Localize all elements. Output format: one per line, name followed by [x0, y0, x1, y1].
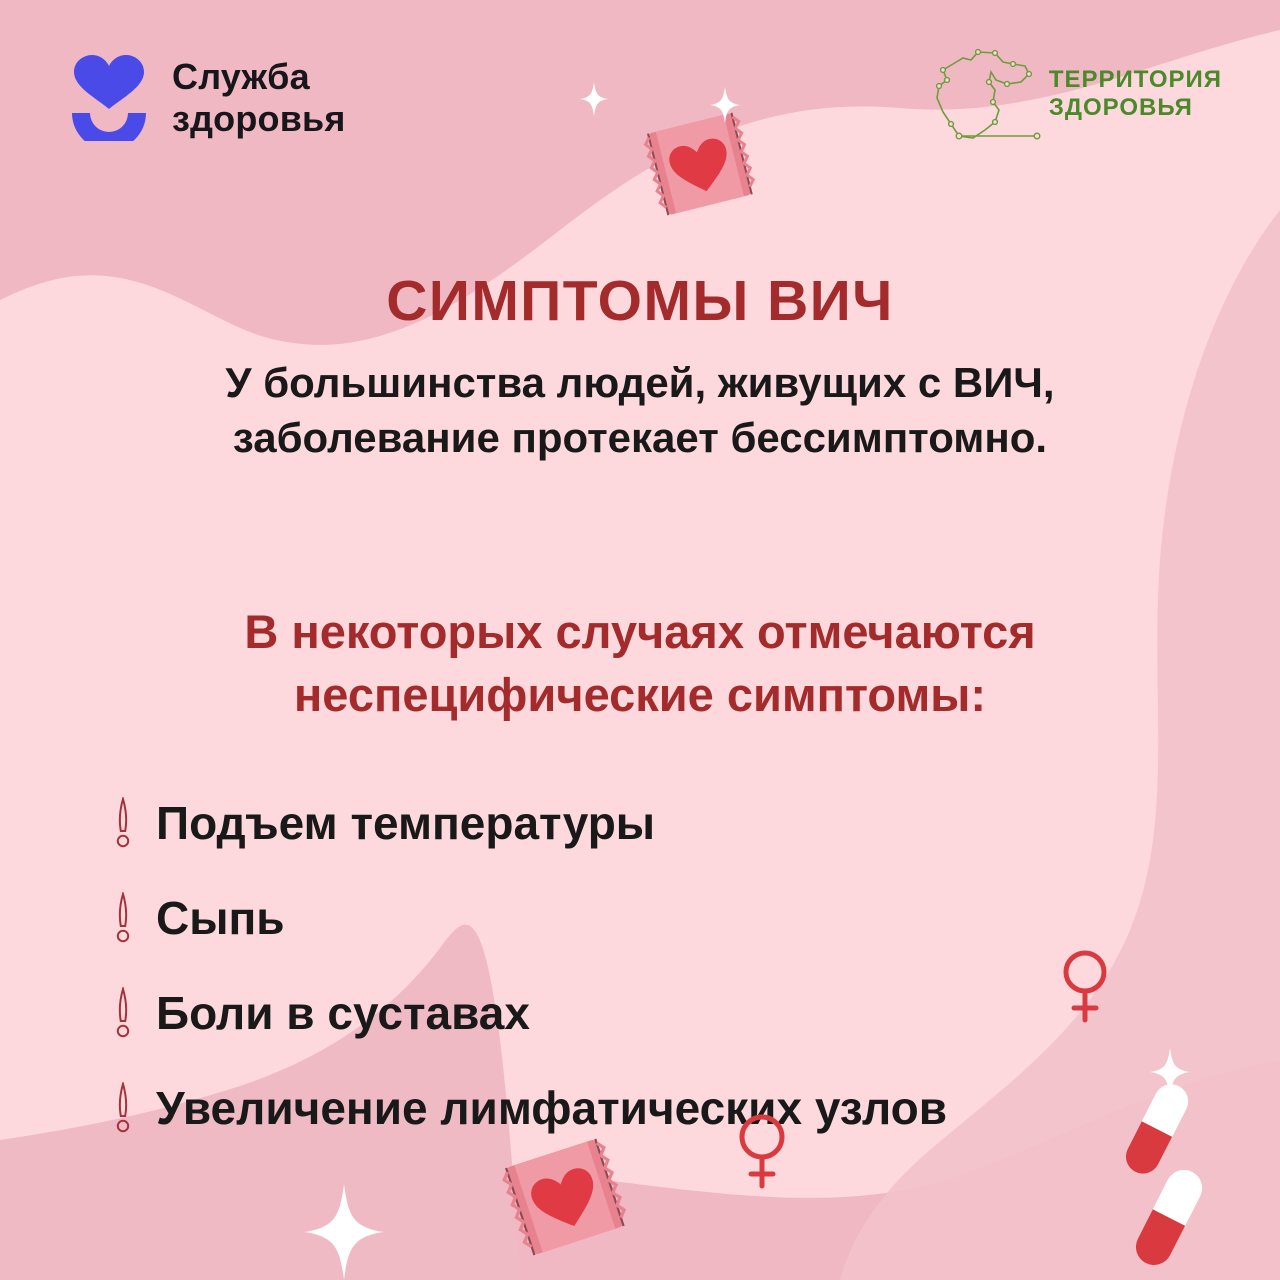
symptom-list: Подъем температуры Сыпь Боли в суставах …: [112, 775, 1232, 1155]
infographic-poster: Служба здоровья ТЕРРИТОРИЯ ЗДОРОВЬЯ: [0, 0, 1280, 1280]
logo-left-line1: Служба: [172, 56, 346, 98]
list-item: Боли в суставах: [112, 965, 1232, 1060]
intro-line-1: У большинства людей, живущих с ВИЧ,: [0, 355, 1280, 410]
sparkle-small-right-icon: [710, 86, 740, 124]
logo-right-line1: ТЕРРИТОРИЯ: [1049, 66, 1222, 94]
venus-symbol-bottom-icon: [734, 1112, 790, 1192]
subheading-line-2: неспецифические симптомы:: [0, 663, 1280, 726]
logo-sluzhba-zdorovya[interactable]: Служба здоровья: [68, 55, 346, 141]
logo-left-wordmark: Служба здоровья: [172, 56, 346, 140]
exclamation-mark-icon: [112, 987, 134, 1039]
intro-line-2: заболевание протекает бессимптомно.: [0, 410, 1280, 465]
list-item: Подъем температуры: [112, 775, 1232, 870]
logo-left-line2: здоровья: [172, 98, 346, 140]
list-item-label: Сыпь: [156, 895, 285, 941]
subheading: В некоторых случаях отмечаются неспецифи…: [0, 600, 1280, 727]
region-map-outline-icon: [933, 44, 1043, 148]
exclamation-mark-icon: [112, 797, 134, 849]
exclamation-mark-icon: [112, 1082, 134, 1134]
sparkle-medium-right-icon: [1150, 1048, 1190, 1096]
sparkle-small-left-icon: [580, 82, 608, 116]
logo-right-line2: ЗДОРОВЬЯ: [1049, 94, 1222, 122]
list-item: Сыпь: [112, 870, 1232, 965]
list-item-label: Подъем температуры: [156, 800, 655, 846]
list-item-label: Увеличение лимфатических узлов: [156, 1085, 947, 1131]
heart-smile-logo-icon: [68, 55, 150, 141]
exclamation-mark-icon: [112, 892, 134, 944]
intro-paragraph: У большинства людей, живущих с ВИЧ, забо…: [0, 355, 1280, 466]
list-item: Увеличение лимфатических узлов: [112, 1060, 1232, 1155]
page-title: СИМПТОМЫ ВИЧ: [0, 268, 1280, 334]
logo-right-wordmark: ТЕРРИТОРИЯ ЗДОРОВЬЯ: [1049, 66, 1222, 127]
logo-territoriya-zdorovya[interactable]: ТЕРРИТОРИЯ ЗДОРОВЬЯ: [933, 44, 1222, 148]
sparkle-large-bottom-icon: [305, 1184, 383, 1280]
list-item-label: Боли в суставах: [156, 990, 530, 1036]
subheading-line-1: В некоторых случаях отмечаются: [0, 600, 1280, 663]
